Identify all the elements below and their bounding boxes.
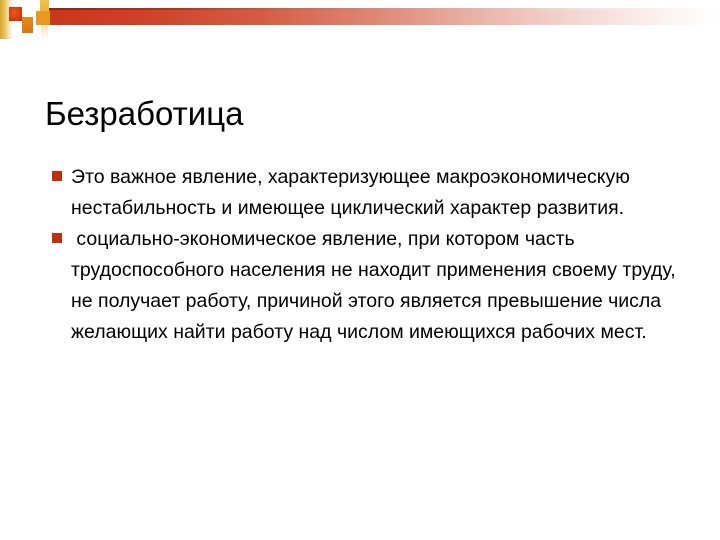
- orange-square-icon: [36, 11, 50, 25]
- slide-header-decoration: [0, 0, 720, 48]
- square-bullet-icon: [52, 171, 62, 181]
- slide-title: Безработица: [45, 95, 243, 133]
- pale-yellow-tick-icon: [41, 24, 48, 40]
- red-square-icon: [9, 7, 22, 21]
- list-item: социально-экономическое явление, при кот…: [50, 224, 690, 348]
- list-item-text: Это важное явление, характеризующее макр…: [71, 162, 690, 224]
- presentation-slide: Безработица Это важное явление, характер…: [0, 0, 720, 540]
- orange-block-icon: [22, 17, 33, 33]
- list-item: Это важное явление, характеризующее макр…: [50, 162, 690, 224]
- slide-body-list: Это важное явление, характеризующее макр…: [50, 162, 690, 348]
- square-bullet-icon: [52, 233, 62, 243]
- list-item-text: социально-экономическое явление, при кот…: [71, 224, 690, 348]
- red-gradient-bar-icon: [45, 10, 720, 25]
